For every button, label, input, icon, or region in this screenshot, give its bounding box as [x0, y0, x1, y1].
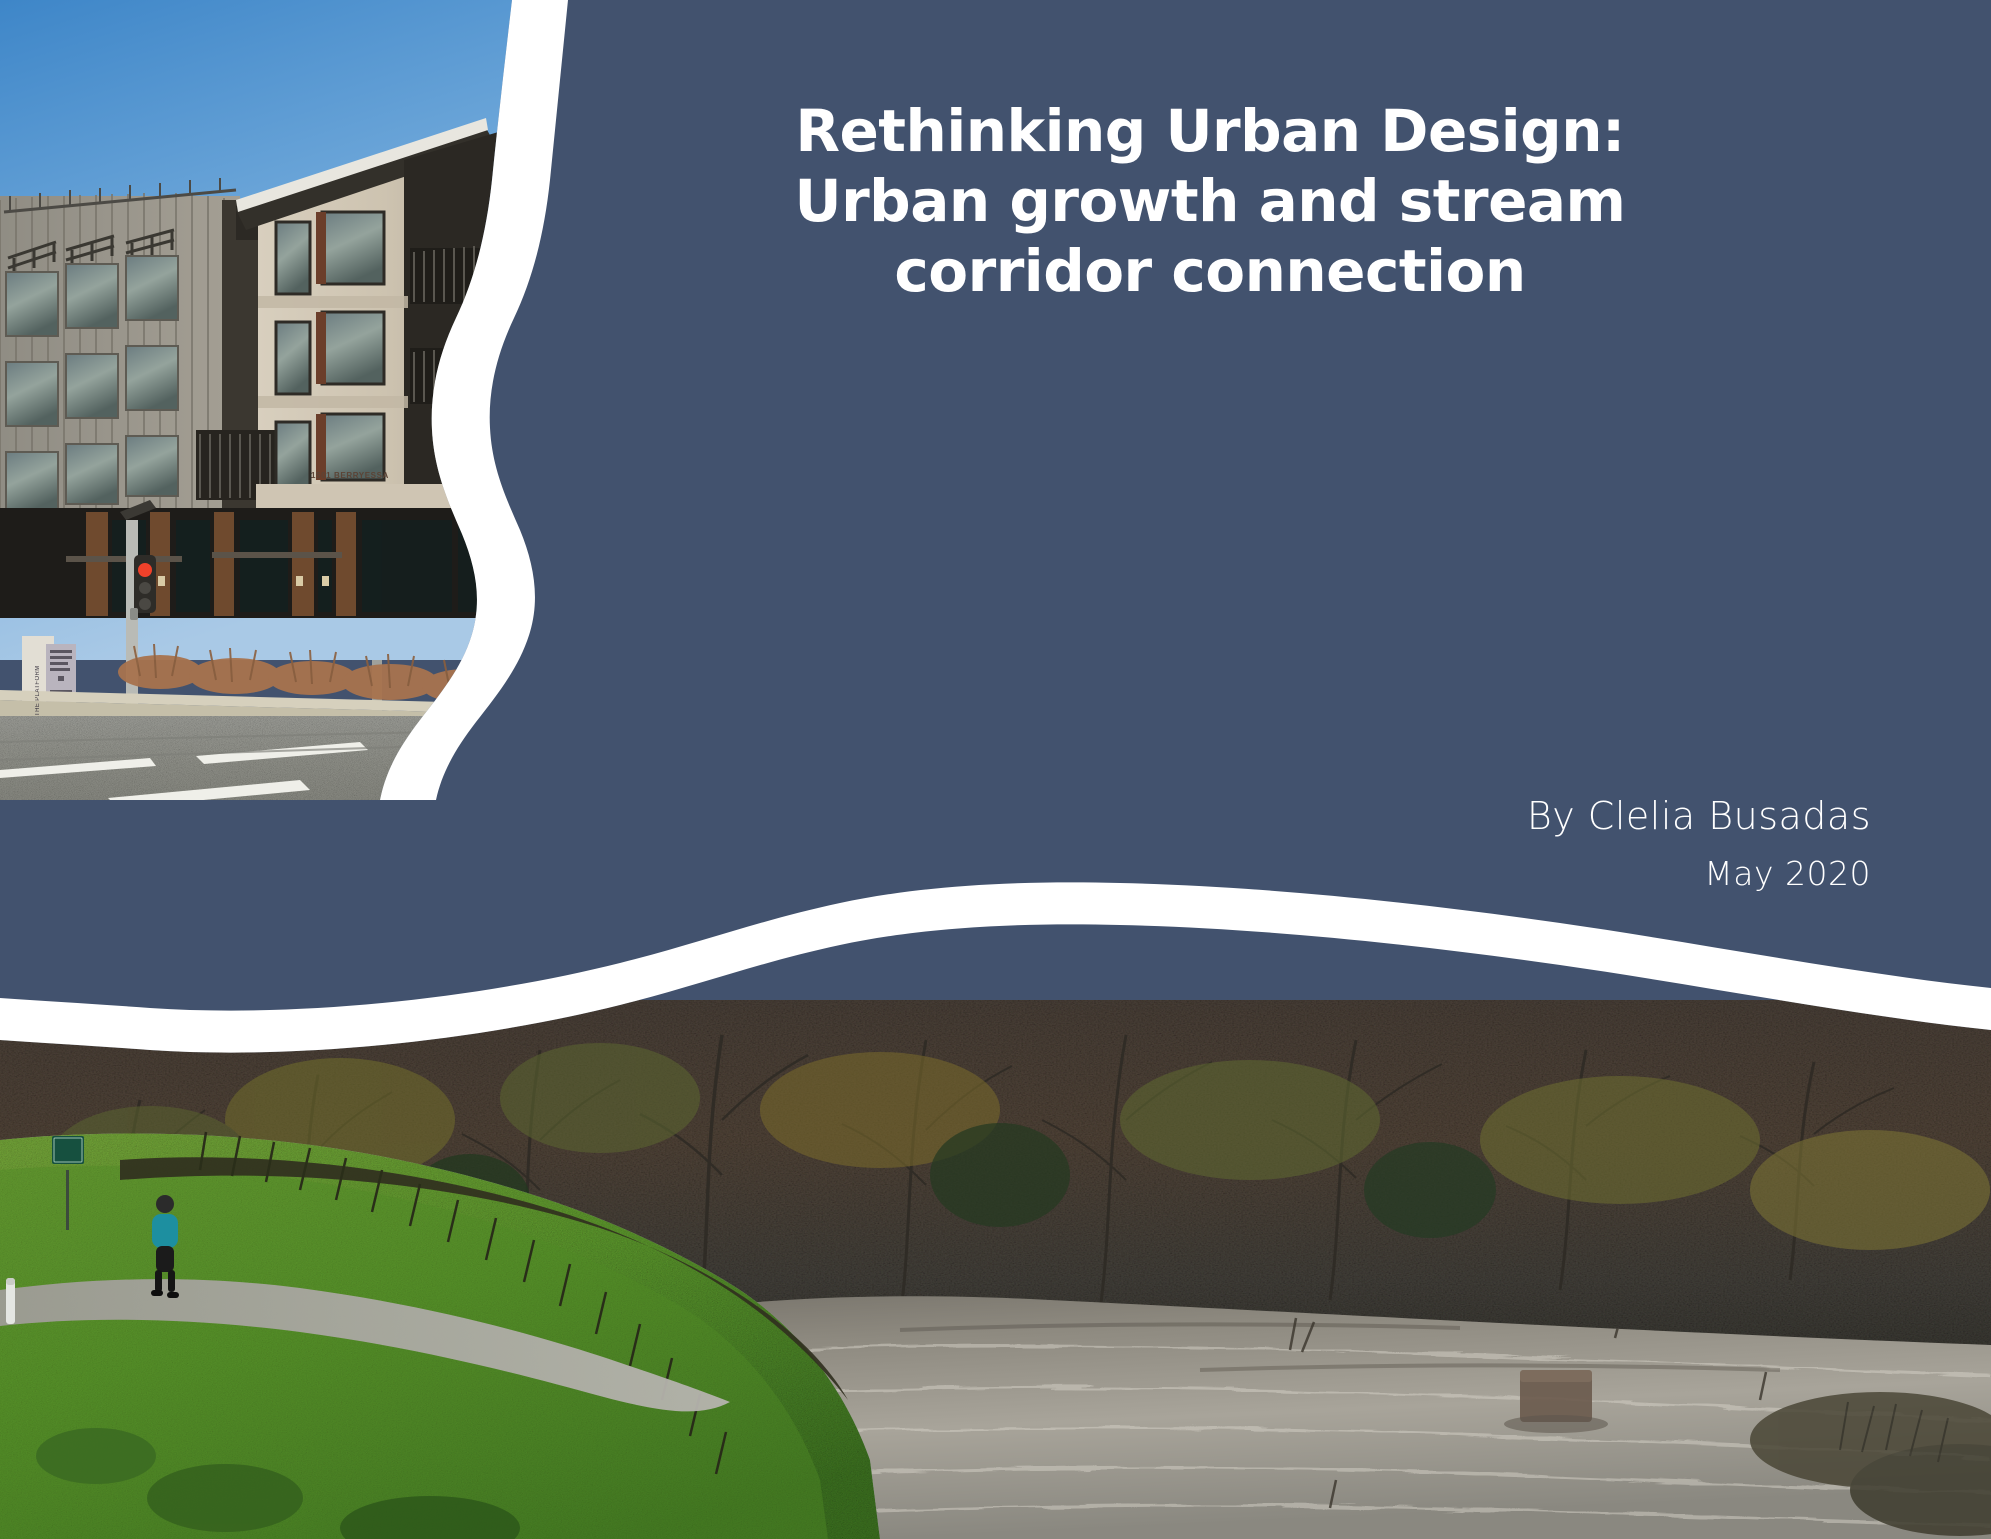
facade-address-sign: 1501 BERRYESSA: [311, 471, 389, 480]
cover-title: Rethinking Urban Design: Urban growth an…: [560, 96, 1860, 306]
publication-date: May 2020: [1171, 848, 1871, 900]
title-line-2: Urban growth and stream: [560, 166, 1860, 236]
title-line-3: corridor connection: [560, 236, 1860, 306]
cover-byline: By Clelia Busadas May 2020: [1171, 790, 1871, 900]
author-name: By Clelia Busadas: [1171, 790, 1871, 842]
report-cover-page: 1501 BERRYESSA THE PLATFORM Rethinking U…: [0, 0, 1991, 1539]
title-line-1: Rethinking Urban Design:: [560, 96, 1860, 166]
monument-sign-label: THE PLATFORM: [35, 648, 48, 734]
